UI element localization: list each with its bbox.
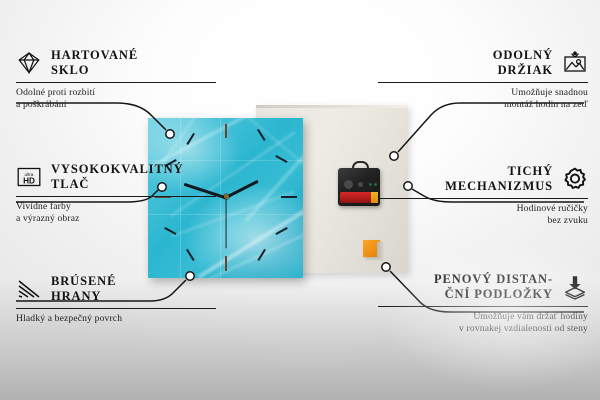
feature-description: Hladký a bezpečný povrch <box>16 313 216 325</box>
clock-tick-7 <box>186 249 194 261</box>
clock-mechanism <box>338 164 380 206</box>
clock-tick-12 <box>225 124 227 138</box>
clock-tick-3 <box>281 196 297 198</box>
product-infographic: HARTOVANÉ SKLO Odolné proti rozbití a po… <box>0 0 600 400</box>
feature-description: Umožňuje vám držať hodiny v rovnakej vzd… <box>378 311 588 336</box>
svg-text:HD: HD <box>23 176 35 185</box>
feature-title: PENOVÝ DISTAN- ČNÍ PODLOŽKY <box>434 272 553 302</box>
press-down-layers-icon <box>562 274 588 300</box>
ultra-hd-icon: ultra HD <box>16 164 42 190</box>
clock-tick-2 <box>275 155 287 163</box>
divider <box>378 198 588 199</box>
feature-durable-holder: ODOLNÝ DRŽIAK Umožňuje snadnou montáž ho… <box>378 48 588 112</box>
mechanism-body <box>338 168 380 206</box>
feature-header: ODOLNÝ DRŽIAK <box>378 48 588 78</box>
feature-title: BRÚSENÉ HRANY <box>51 274 116 304</box>
feature-title: HARTOVANÉ SKLO <box>51 48 138 78</box>
clock-tick-8 <box>164 227 176 235</box>
picture-hanger-icon <box>562 50 588 76</box>
divider <box>16 196 216 197</box>
feature-silent-mechanism: TICHÝ MECHANIZMUS Hodinové ručičky bez z… <box>378 164 588 228</box>
feature-title: ODOLNÝ DRŽIAK <box>493 48 553 78</box>
foam-spacer-pad <box>363 240 380 257</box>
feature-description: Vivídne farby a výrazný obraz <box>16 201 216 226</box>
feature-description: Umožňuje snadnou montáž hodin na zeď <box>378 87 588 112</box>
feature-header: BRÚSENÉ HRANY <box>16 274 216 304</box>
clock-hour-hand <box>225 180 259 199</box>
mechanism-battery <box>340 192 378 203</box>
feature-tempered-glass: HARTOVANÉ SKLO Odolné proti rozbití a po… <box>16 48 216 112</box>
feature-polished-edges: BRÚSENÉ HRANY Hladký a bezpečný povrch <box>16 274 216 325</box>
divider <box>16 308 216 309</box>
clock-tick-6 <box>225 256 227 271</box>
feature-hd-print: ultra HD VYSOKOKVALITNÝ TLAČ Vivídne far… <box>16 162 216 226</box>
feature-header: PENOVÝ DISTAN- ČNÍ PODLOŽKY <box>378 272 588 302</box>
feature-foam-spacers: PENOVÝ DISTAN- ČNÍ PODLOŽKY Umožňuje vám… <box>378 272 588 336</box>
feature-description: Odolné proti rozbití a poškrábání <box>16 87 216 112</box>
divider <box>378 306 588 307</box>
divider <box>16 82 216 83</box>
divider <box>378 82 588 83</box>
feature-header: TICHÝ MECHANIZMUS <box>378 164 588 194</box>
feature-title: TICHÝ MECHANIZMUS <box>445 164 553 194</box>
diagonal-lines-icon <box>16 276 42 302</box>
clock-second-hand <box>225 197 226 249</box>
diamond-icon <box>16 50 42 76</box>
feature-header: ultra HD VYSOKOKVALITNÝ TLAČ <box>16 162 216 192</box>
clock-center-pivot <box>224 194 229 199</box>
feature-header: HARTOVANÉ SKLO <box>16 48 216 78</box>
gear-icon <box>562 166 588 192</box>
feature-description: Hodinové ručičky bez zvuku <box>378 203 588 228</box>
feature-title: VYSOKOKVALITNÝ TLAČ <box>51 162 184 192</box>
